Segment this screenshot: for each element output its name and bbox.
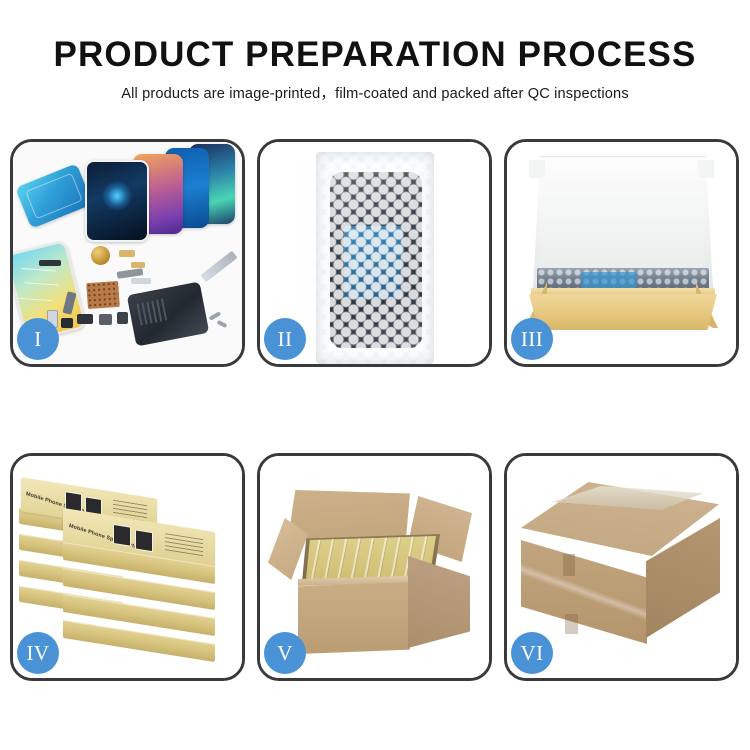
wrap-edge-shading <box>316 152 434 364</box>
mailer-box-interior <box>539 200 705 270</box>
step-badge-2: II <box>264 318 306 360</box>
spare-part-icon <box>99 314 112 325</box>
speaker-coil-icon <box>91 246 110 265</box>
spare-part-icon <box>61 318 73 328</box>
spare-part-icon <box>39 260 61 266</box>
step-badge-1: I <box>17 318 59 360</box>
mailer-lid-tab-right <box>698 160 714 178</box>
step-badge-4: IV <box>17 632 59 674</box>
step-badge-5: V <box>264 632 306 674</box>
process-step-panel-3[interactable]: III <box>504 139 739 367</box>
spare-part-icon <box>119 250 135 257</box>
infographic-page: PRODUCT PREPARATION PROCESS All products… <box>0 0 750 750</box>
carton-front-face <box>298 582 410 654</box>
box-spec-lines <box>165 533 203 558</box>
process-step-panel-1[interactable]: I <box>10 139 245 367</box>
process-step-panel-5[interactable]: V <box>257 453 492 681</box>
spare-part-icon <box>77 314 93 324</box>
header: PRODUCT PREPARATION PROCESS All products… <box>0 34 750 104</box>
mailer-lid-tab-left <box>529 160 545 178</box>
page-title: PRODUCT PREPARATION PROCESS <box>0 34 750 76</box>
process-step-panel-2[interactable]: II <box>257 139 492 367</box>
carton-seam-mark <box>565 614 578 634</box>
bubble-wrap-sheet-icon <box>316 152 434 364</box>
process-step-panel-6[interactable]: VI <box>504 453 739 681</box>
mailer-box-front-icon <box>529 294 717 330</box>
step-badge-6: VI <box>511 632 553 674</box>
chip-array-icon <box>86 281 120 309</box>
carton-seam-mark <box>563 554 575 576</box>
step-badge-3: III <box>511 318 553 360</box>
process-step-grid: I II <box>10 139 740 681</box>
process-step-panel-4[interactable]: Mobile Phone Spare Parts Mobile Phone Sp… <box>10 453 245 681</box>
box-phone-image <box>135 529 153 552</box>
spare-part-icon <box>117 312 128 324</box>
page-subtitle: All products are image-printed，film-coat… <box>0 85 750 104</box>
spare-part-icon <box>131 262 145 268</box>
spare-part-icon <box>131 278 151 284</box>
phone-screen-black-icon <box>85 160 149 242</box>
box-phone-image <box>113 524 131 547</box>
